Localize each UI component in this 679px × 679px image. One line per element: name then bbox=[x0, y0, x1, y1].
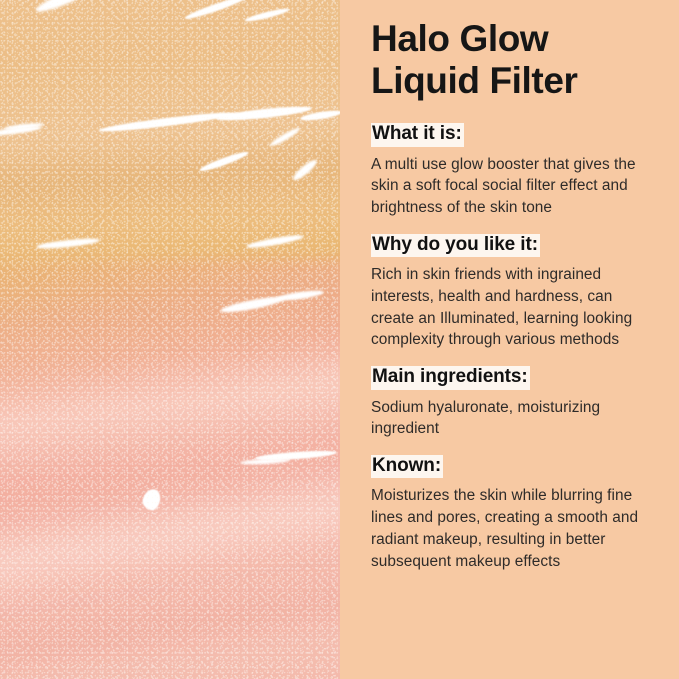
page-title: Halo Glow Liquid Filter bbox=[371, 18, 657, 102]
product-title-line-1: Halo Glow bbox=[371, 18, 657, 60]
product-swatch-image bbox=[0, 0, 340, 679]
section-what-it-is: What it is: A multi use glow booster tha… bbox=[371, 123, 657, 219]
swatch-glitter-fine bbox=[0, 0, 340, 679]
product-text-panel: Halo Glow Liquid Filter What it is: A mu… bbox=[340, 0, 679, 679]
section-known: Known: Moisturizes the skin while blurri… bbox=[371, 455, 657, 572]
section-body-main-ingredients: Sodium hyaluronate, moisturizing ingredi… bbox=[371, 397, 657, 440]
section-heading-why-do-you-like-it: Why do you like it: bbox=[371, 234, 540, 257]
section-body-known: Moisturizes the skin while blurring fine… bbox=[371, 485, 657, 572]
section-body-why-do-you-like-it: Rich in skin friends with ingrained inte… bbox=[371, 264, 657, 351]
product-infographic: Halo Glow Liquid Filter What it is: A mu… bbox=[0, 0, 679, 679]
product-title-line-2: Liquid Filter bbox=[371, 60, 657, 102]
section-heading-what-it-is: What it is: bbox=[371, 123, 464, 146]
section-body-what-it-is: A multi use glow booster that gives the … bbox=[371, 154, 657, 219]
section-main-ingredients: Main ingredients: Sodium hyaluronate, mo… bbox=[371, 366, 657, 440]
section-heading-known: Known: bbox=[371, 455, 443, 478]
section-heading-main-ingredients: Main ingredients: bbox=[371, 366, 530, 389]
section-why-do-you-like-it: Why do you like it: Rich in skin friends… bbox=[371, 234, 657, 351]
